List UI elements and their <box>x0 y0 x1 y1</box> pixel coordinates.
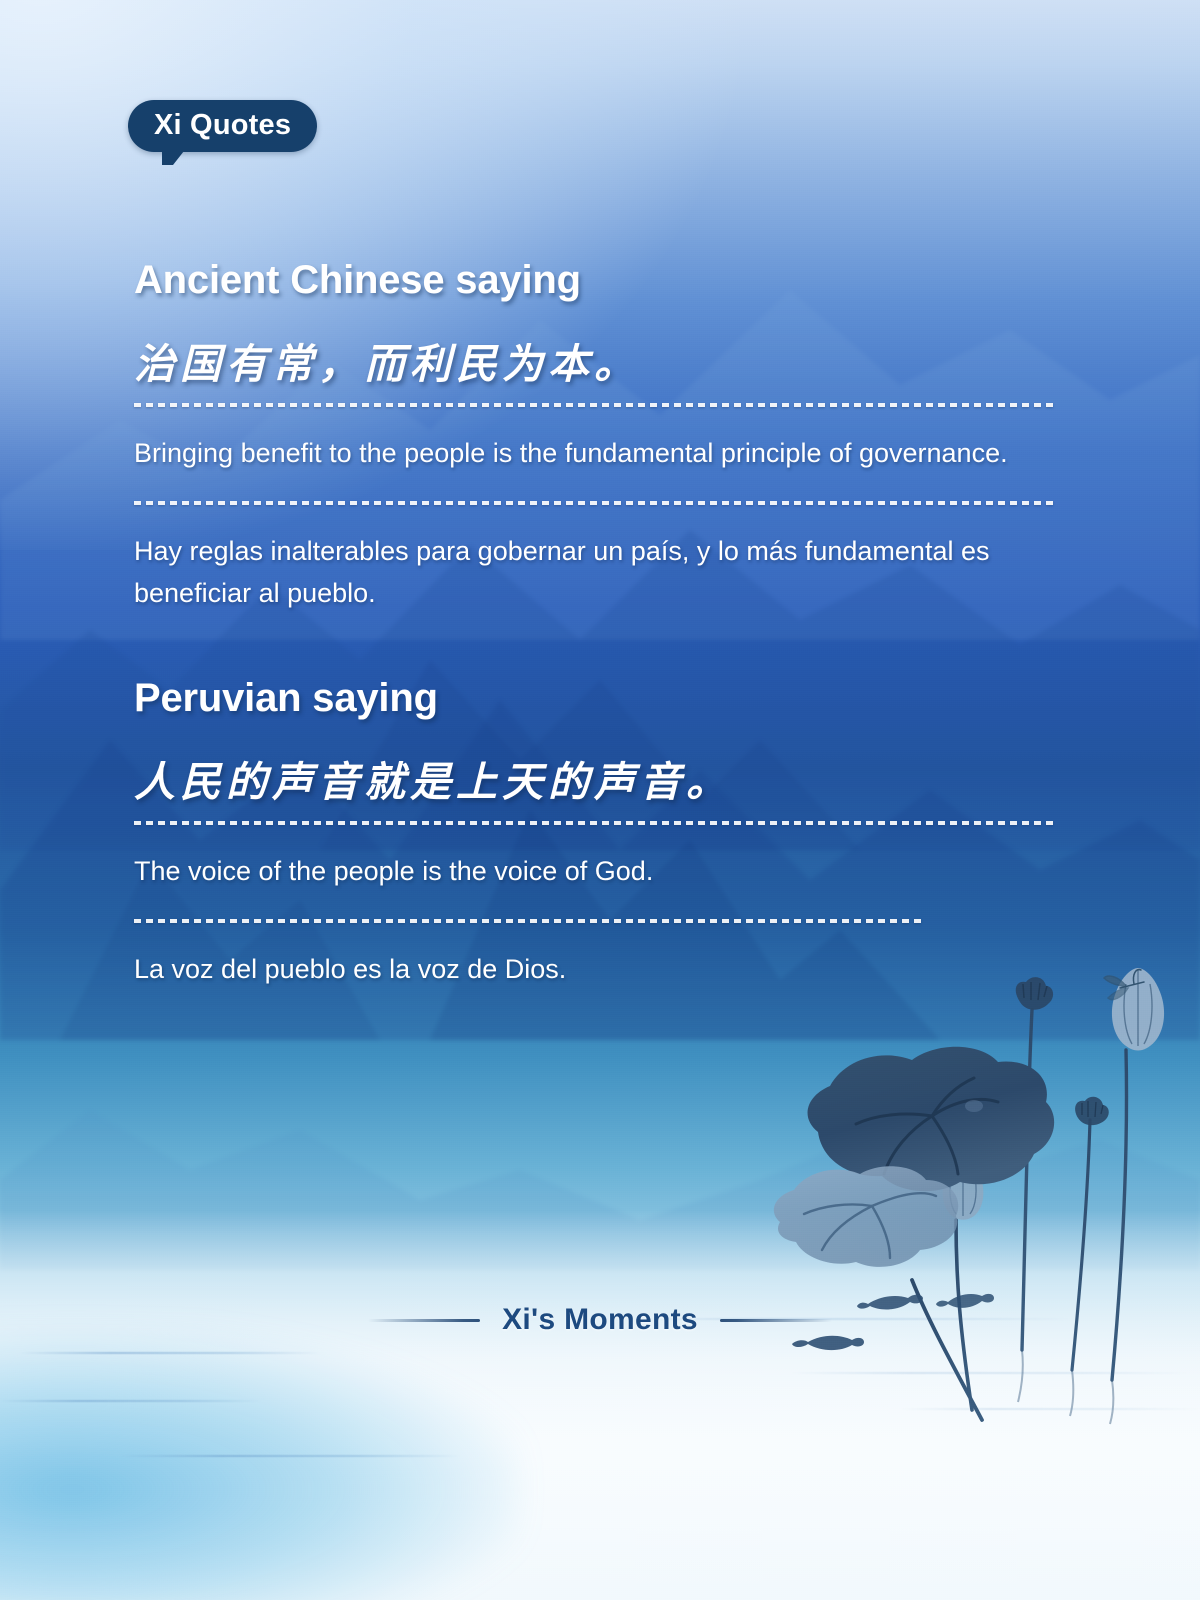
spanish-translation: Hay reglas inalterables para gobernar un… <box>134 531 1014 615</box>
dotted-divider <box>134 403 1054 407</box>
dotted-divider <box>134 821 1054 825</box>
dotted-divider <box>134 919 924 923</box>
dotted-divider <box>134 501 1054 505</box>
poster-canvas: Xi Quotes Ancient Chinese saying 治国有常，而利… <box>0 0 1200 1600</box>
quote-section-peruvian: Peruvian saying 人民的声音就是上天的声音。 The voice … <box>134 676 1058 991</box>
water-ripple <box>120 1455 460 1457</box>
water-ripple <box>900 1408 1200 1410</box>
quote-section-ancient-chinese: Ancient Chinese saying 治国有常，而利民为本。 Bring… <box>134 258 1058 614</box>
badge-label: Xi Quotes <box>154 109 291 141</box>
water-blue-pool <box>0 1330 520 1600</box>
chinese-quote: 人民的声音就是上天的声音。 <box>134 757 1058 807</box>
footer-rule-right <box>720 1319 832 1322</box>
water-ripple <box>20 1352 320 1354</box>
footer-title: Xi's Moments <box>502 1303 698 1337</box>
section-heading: Peruvian saying <box>134 676 1058 721</box>
english-translation: Bringing benefit to the people is the fu… <box>134 433 1014 475</box>
spanish-translation: La voz del pueblo es la voz de Dios. <box>134 949 1014 991</box>
xi-quotes-badge: Xi Quotes <box>128 100 317 152</box>
section-heading: Ancient Chinese saying <box>134 258 1058 303</box>
quote-content: Ancient Chinese saying 治国有常，而利民为本。 Bring… <box>134 258 1058 995</box>
footer-rule-left <box>368 1319 480 1322</box>
english-translation: The voice of the people is the voice of … <box>134 851 1014 893</box>
footer-brand: Xi's Moments <box>0 1303 1200 1337</box>
chinese-quote: 治国有常，而利民为本。 <box>134 339 1058 389</box>
water-ripple <box>790 1372 1190 1374</box>
water-ripple <box>0 1400 260 1402</box>
